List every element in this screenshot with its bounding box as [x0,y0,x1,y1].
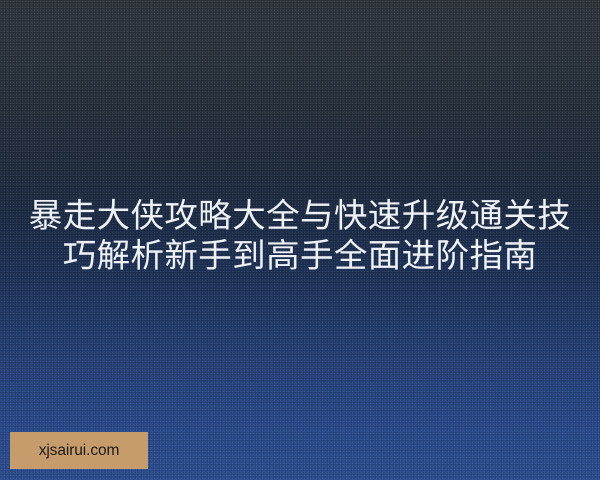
page-title: 暴走大侠攻略大全与快速升级通关技巧解析新手到高手全面进阶指南 [0,197,600,277]
banner-canvas: 暴走大侠攻略大全与快速升级通关技巧解析新手到高手全面进阶指南 xjsairui.… [0,0,600,480]
watermark-badge: xjsairui.com [10,432,148,469]
watermark-text: xjsairui.com [39,443,120,459]
